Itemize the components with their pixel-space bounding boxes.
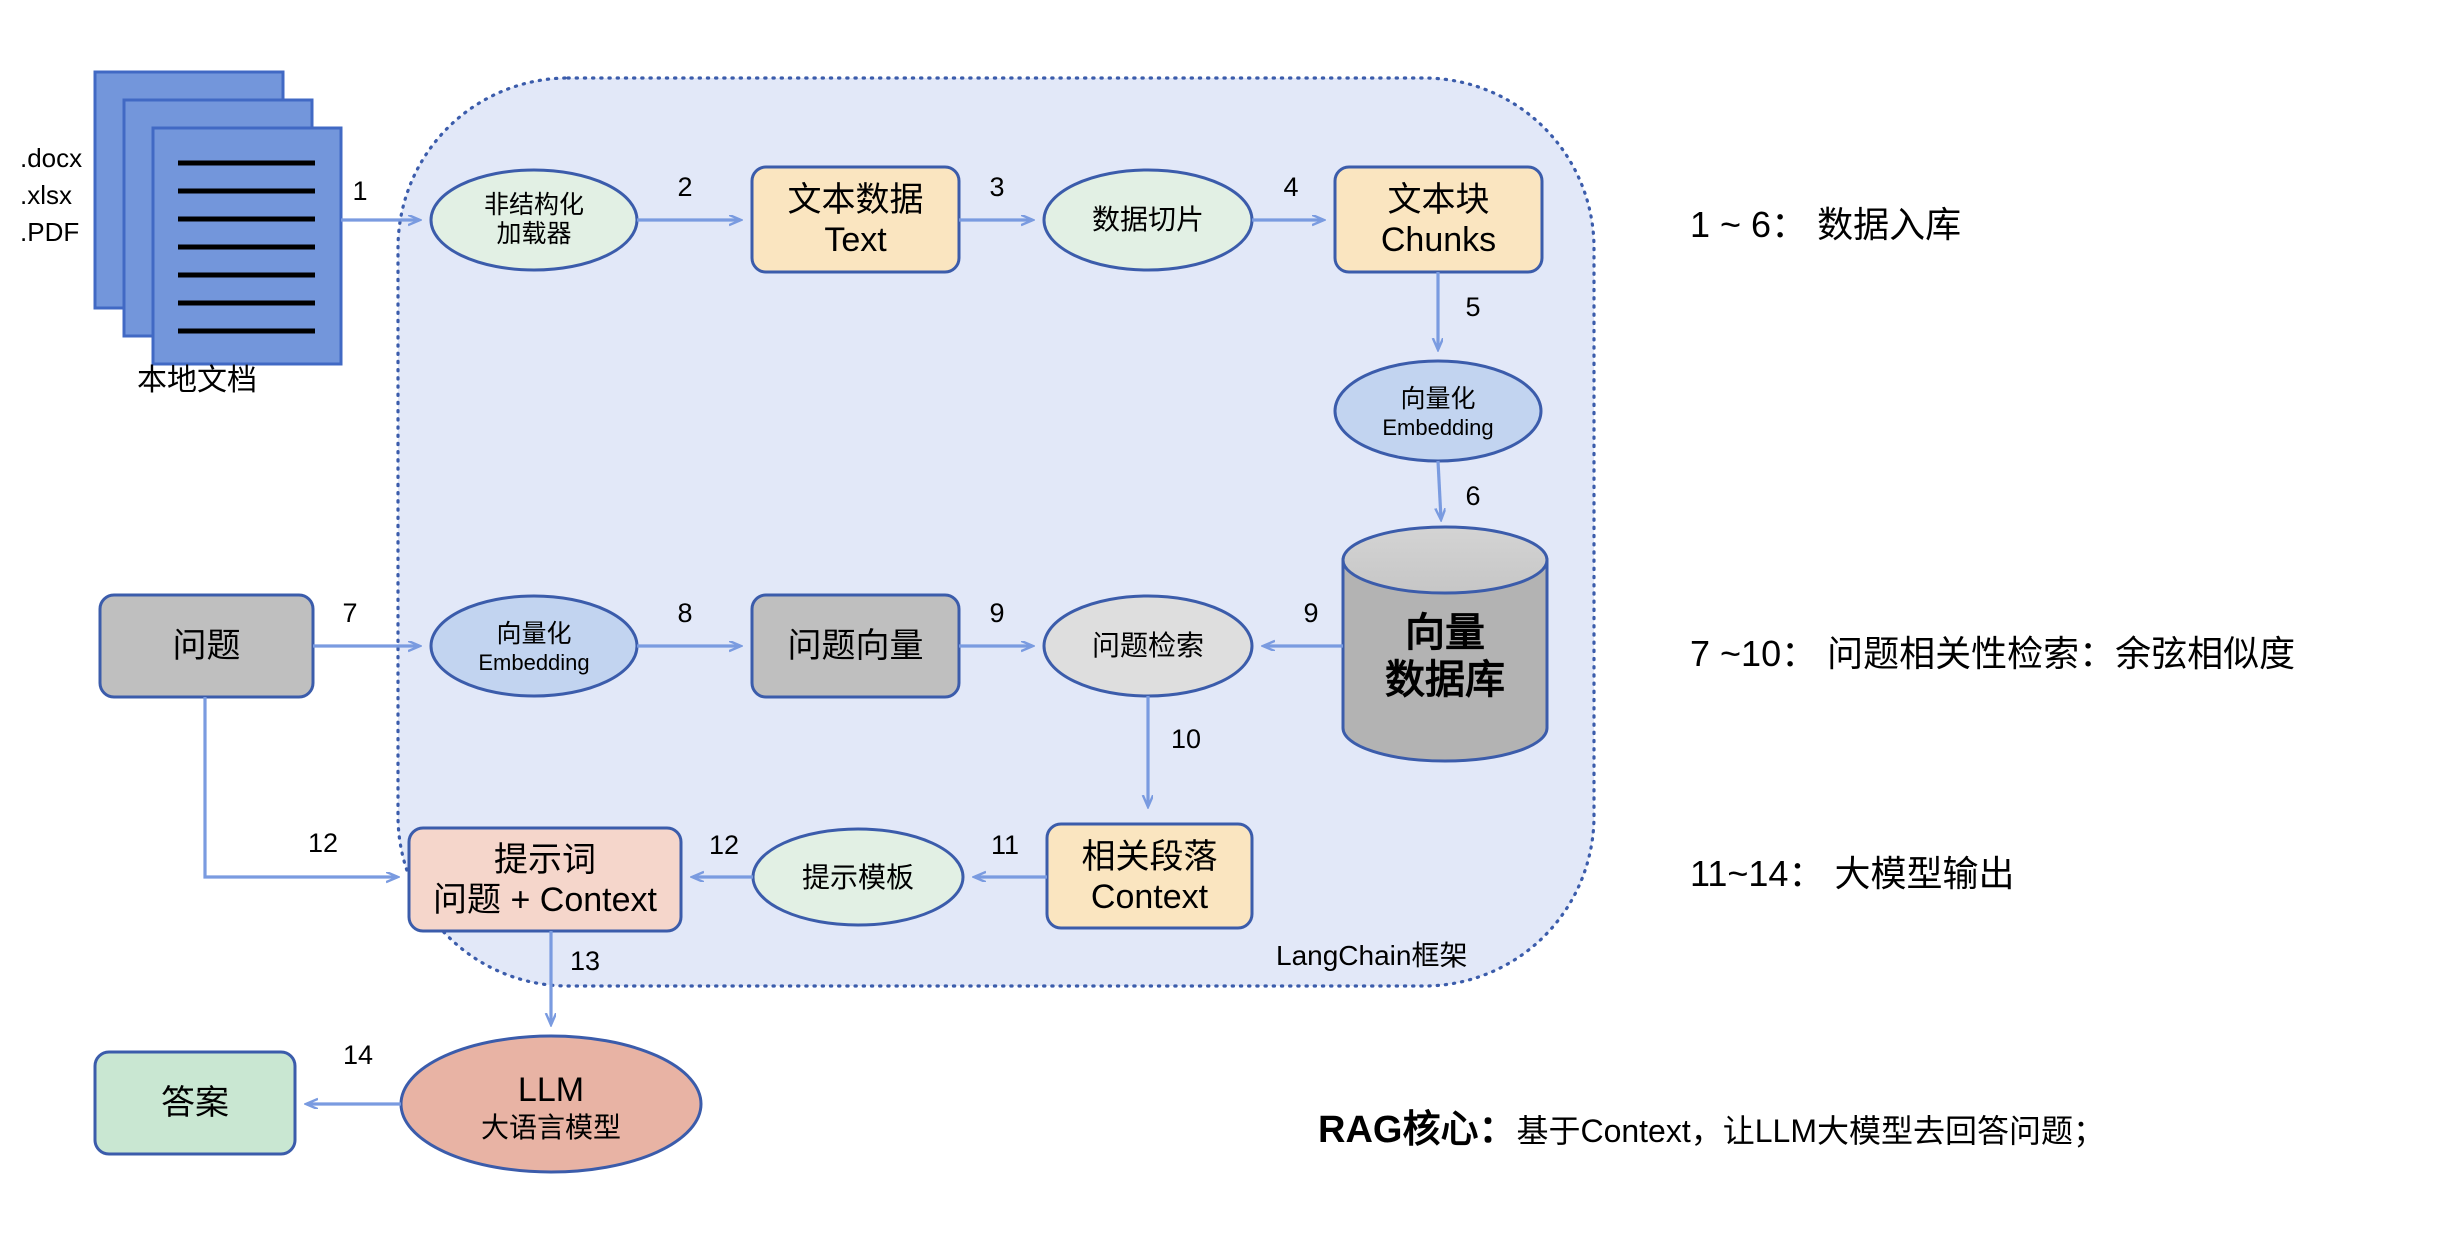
node-split bbox=[1044, 170, 1252, 270]
node-vector-database bbox=[1343, 527, 1547, 761]
edge-number-9b: 9 bbox=[1291, 598, 1331, 629]
edge-number-12b: 12 bbox=[701, 830, 747, 861]
node-llm bbox=[401, 1036, 701, 1172]
node-answer bbox=[95, 1052, 295, 1154]
edge-number-4: 4 bbox=[1271, 172, 1311, 203]
node-text bbox=[752, 167, 959, 272]
edge-number-5: 5 bbox=[1453, 292, 1493, 323]
edge-number-10: 10 bbox=[1164, 724, 1208, 755]
node-loader bbox=[431, 170, 637, 270]
file-type-pdf: .PDF bbox=[20, 214, 82, 251]
edge-number-8: 8 bbox=[665, 598, 705, 629]
rag-core-note: RAG核心： 基于Context，让LLM大模型去回答问题； bbox=[1318, 1098, 2105, 1153]
legend-item-generation: 11~14： 大模型输出 bbox=[1690, 845, 2014, 897]
local-document-stack bbox=[95, 72, 341, 364]
node-question-vector bbox=[752, 595, 959, 697]
node-prompt-template bbox=[753, 829, 963, 925]
legend-item-ingest: 1 ~ 6： 数据入库 bbox=[1690, 196, 1961, 248]
edge-number-1: 1 bbox=[340, 176, 380, 207]
langchain-container-label: LangChain框架 bbox=[1276, 934, 1467, 974]
edge-number-2: 2 bbox=[665, 172, 705, 203]
node-retrieve bbox=[1044, 596, 1252, 696]
node-question bbox=[100, 595, 313, 697]
edge-number-7: 7 bbox=[330, 598, 370, 629]
edge-number-14: 14 bbox=[336, 1040, 380, 1071]
node-prompt bbox=[409, 828, 681, 931]
file-type-xlsx: .xlsx bbox=[20, 177, 82, 214]
edge-number-12a: 12 bbox=[300, 828, 346, 859]
legend-item-retrieval: 7 ~10： 问题相关性检索：余弦相似度 bbox=[1690, 625, 2295, 677]
edge-number-6: 6 bbox=[1453, 481, 1493, 512]
local-document-caption: 本地文档 bbox=[137, 355, 257, 399]
node-embedding-doc bbox=[1335, 361, 1541, 461]
edge-number-11: 11 bbox=[985, 830, 1025, 861]
node-context bbox=[1047, 824, 1252, 928]
source-file-types: .docx .xlsx .PDF bbox=[20, 140, 82, 251]
node-chunks bbox=[1335, 167, 1542, 272]
rag-core-body: 基于Context，让LLM大模型去回答问题； bbox=[1516, 1106, 2105, 1152]
edge-number-3: 3 bbox=[977, 172, 1017, 203]
node-embedding-query bbox=[431, 596, 637, 696]
edge-number-9a: 9 bbox=[977, 598, 1017, 629]
rag-core-title: RAG核心： bbox=[1318, 1098, 1516, 1153]
file-type-docx: .docx bbox=[20, 140, 82, 177]
diagram-canvas: 非结构化 加载器 文本数据 Text 数据切片 文本块 Chunks 向量化 E… bbox=[0, 0, 2446, 1234]
edge-number-13: 13 bbox=[563, 946, 607, 977]
